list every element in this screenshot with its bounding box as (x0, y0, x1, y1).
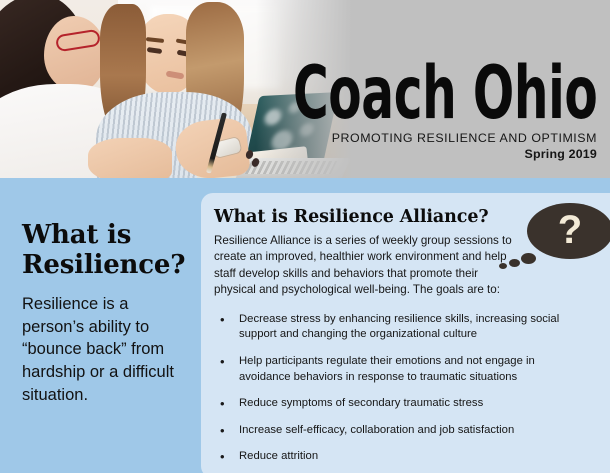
sidebar-heading: What is Resilience? (22, 220, 194, 281)
panel-intro-text: Resilience Alliance is a series of weekl… (214, 233, 516, 299)
brand-block: Coach Ohio PROMOTING RESILIENCE AND OPTI… (186, 62, 597, 161)
sidebar-body-text: Resilience is a person’s ability to “bou… (22, 293, 194, 407)
person-left-arm (88, 138, 172, 178)
list-item: Reduce symptoms of secondary traumatic s… (214, 396, 586, 412)
thought-bubble-dot (509, 259, 520, 267)
list-item: Increase self-efficacy, collaboration an… (214, 423, 586, 439)
goals-list: Decrease stress by enhancing resilience … (214, 312, 601, 473)
body-area: What is Resilience? Resilience is a pers… (0, 178, 610, 473)
resilience-alliance-panel: What is Resilience Alliance? Resilience … (201, 193, 610, 473)
question-mark-glyph: ? (558, 210, 582, 250)
list-item: Help participants regulate their emotion… (214, 354, 586, 385)
masthead: Coach Ohio PROMOTING RESILIENCE AND OPTI… (0, 0, 610, 178)
thought-bubble-dot (499, 263, 507, 269)
question-thought-bubble-icon: ? (527, 203, 610, 259)
newsletter-page: Coach Ohio PROMOTING RESILIENCE AND OPTI… (0, 0, 610, 473)
list-item: Decrease stress by enhancing resilience … (214, 312, 586, 343)
publication-title: Coach Ohio (293, 62, 597, 126)
issue-date: Spring 2019 (186, 147, 597, 161)
thought-bubble-dot (521, 253, 536, 264)
list-item: Reduce attrition (214, 449, 586, 465)
person-left-face (44, 16, 106, 92)
sidebar-definition: What is Resilience? Resilience is a pers… (22, 220, 194, 407)
